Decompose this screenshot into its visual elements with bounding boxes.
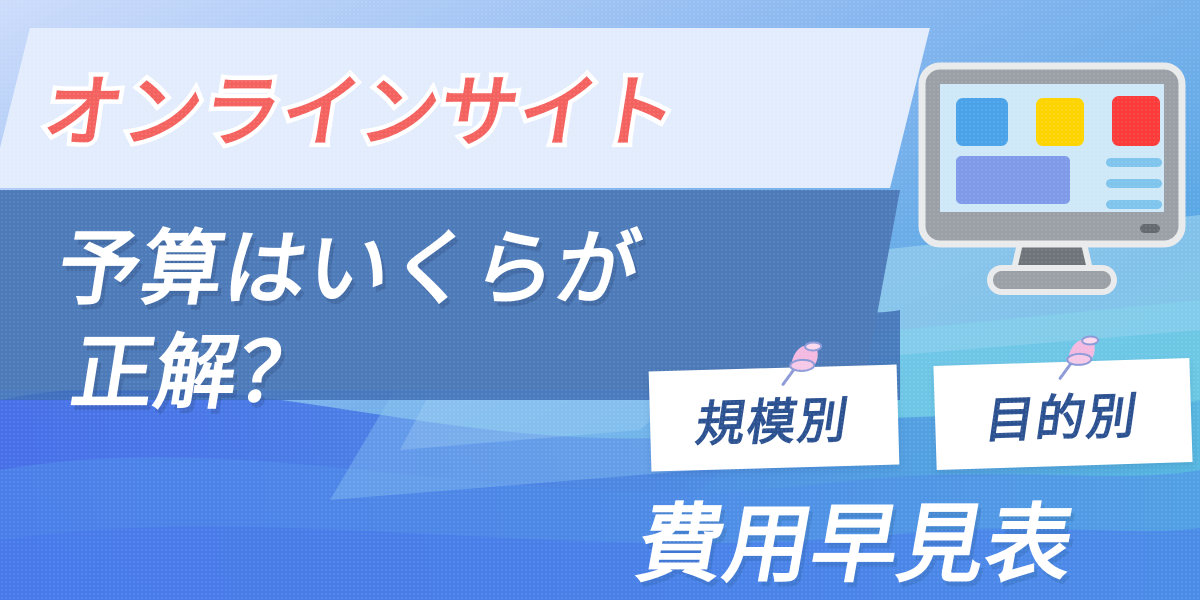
power-indicator (1140, 224, 1160, 233)
content-block (956, 156, 1070, 204)
tile-blue (956, 98, 1008, 146)
banner-title: オンラインサイト (35, 36, 957, 176)
poster-canvas: オンラインサイト 予算はいくらが 正解？ 規模別 目的別 (0, 0, 1200, 600)
content-line (1106, 179, 1162, 188)
content-line (1106, 158, 1162, 167)
tag-label: 規模別 (692, 380, 855, 456)
tile-yellow (1036, 98, 1084, 146)
desktop-monitor-icon (918, 62, 1186, 312)
tag-label: 目的別 (981, 376, 1144, 452)
content-line (1106, 200, 1162, 209)
tile-red (1112, 96, 1160, 146)
bottom-title: 費用早見表 (629, 474, 1086, 599)
